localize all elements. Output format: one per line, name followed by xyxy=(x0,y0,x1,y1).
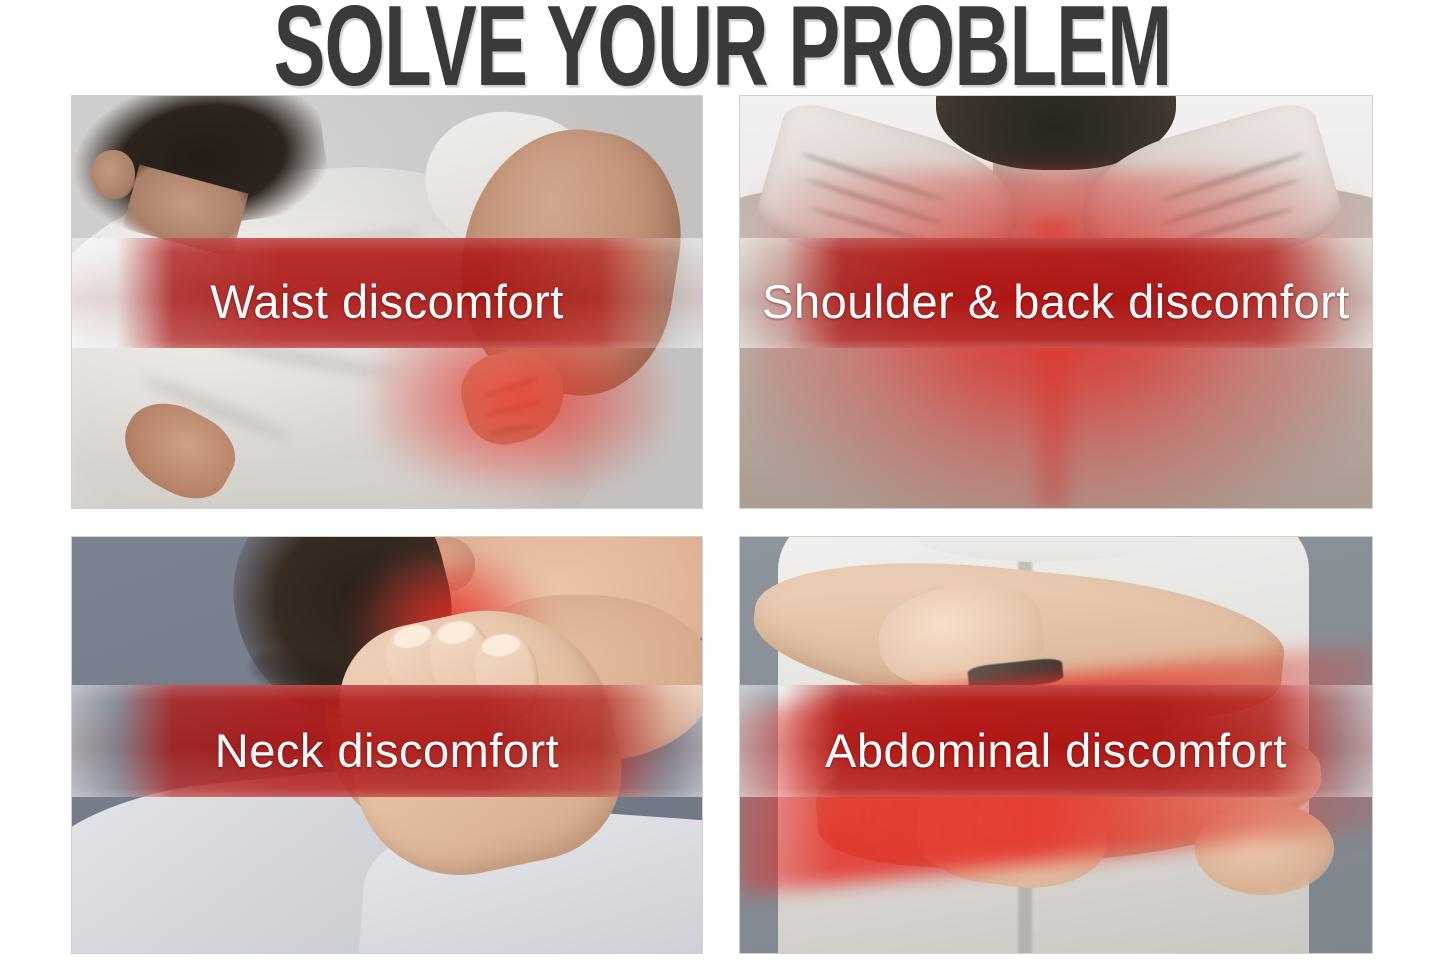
page-title: SOLVE YOUR PROBLEM xyxy=(0,0,1445,90)
spine-highlight xyxy=(1037,220,1069,508)
symptom-panel-shoulder-back[interactable]: Shoulder & back discomfort xyxy=(740,96,1372,508)
ear-shape xyxy=(91,150,135,199)
symptom-panel-neck[interactable]: Neck discomfort xyxy=(72,537,702,953)
abdominal-pain-photo xyxy=(740,537,1372,953)
pain-glow-overlay xyxy=(374,302,664,492)
shoulder-back-pain-photo xyxy=(740,96,1372,508)
waist-pain-photo xyxy=(72,96,702,508)
symptom-panel-waist[interactable]: Waist discomfort xyxy=(72,96,702,508)
symptom-panel-grid: Waist discomfort Shoulder & back disco xyxy=(72,96,1372,953)
symptom-panel-abdomen[interactable]: Abdominal discomfort xyxy=(740,537,1372,953)
page-title-text: SOLVE YOUR PROBLEM xyxy=(274,0,1172,102)
neck-pain-photo xyxy=(72,537,702,953)
